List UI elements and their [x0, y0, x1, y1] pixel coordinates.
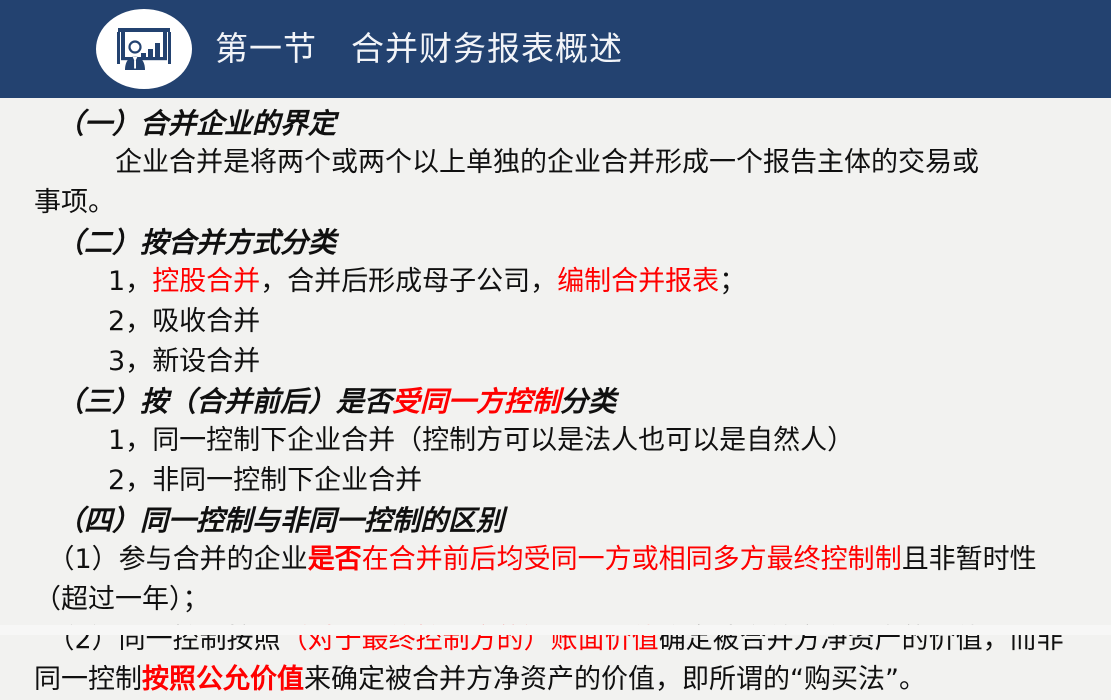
list-item-text: 非同一控制下企业合并 — [152, 465, 422, 496]
item2-mid-3: 来确定被合并方净资产的价 — [304, 664, 628, 695]
list-item-text-tail: ； — [719, 266, 746, 297]
list-item-number: 2， — [108, 465, 152, 496]
list-item-number: 2， — [108, 306, 152, 337]
section-one-paragraph-line-2: 事项。 — [34, 183, 1084, 223]
section-two-heading: （二）按合并方式分类 — [34, 223, 1084, 262]
item2-highlight-2: 按照公允价值 — [142, 664, 304, 695]
list-item-highlight-lead: 控股合并 — [152, 266, 260, 297]
slide-header-band: 第一节 合并财务报表概述 — [0, 0, 1111, 98]
list-item: 2，吸收合并 — [34, 302, 1084, 342]
list-item: 1，同一控制下企业合并（控制方可以是法人也可以是自然人） — [34, 421, 1084, 461]
section-four-item-1: （1）参与合并的企业是否在合并前后均受同一方或相同多方最终控制制且非暂时性（超过… — [34, 540, 1084, 620]
list-item-number: 3， — [108, 346, 152, 377]
slide-content: （一）合并企业的界定 企业合并是将两个或两个以上单独的企业合并形成一个报告主体的… — [34, 104, 1084, 700]
item1-highlight-wrap: 制 — [875, 544, 902, 575]
item1-lead: （1）参与合并的企业 — [34, 544, 308, 575]
list-item: 2，非同一控制下企业合并 — [34, 461, 1084, 501]
section-three-heading-part2: 分类 — [560, 385, 616, 418]
presentation-chart-person-icon — [115, 24, 173, 74]
list-item: 3，新设合并 — [34, 342, 1084, 382]
list-item-text: 新设合并 — [152, 346, 260, 377]
section-one-heading: （一）合并企业的界定 — [34, 104, 1084, 143]
section-four-heading: （四）同一控制与非同一控制的区别 — [34, 501, 1084, 540]
list-item-text-mid: ，合并后形成母子公司， — [260, 266, 557, 297]
item1-highlight-bold: 是否 — [308, 544, 362, 575]
slide-bottom-strip — [0, 625, 1111, 635]
slide-body: （一）合并企业的界定 企业合并是将两个或两个以上单独的企业合并形成一个报告主体的… — [0, 98, 1111, 625]
list-item: 1，控股合并，合并后形成母子公司，编制合并报表； — [34, 262, 1084, 302]
list-item-text: 同一控制下企业合并（控制方可以是法人也可以是自然人） — [152, 425, 854, 456]
list-item-text: 吸收合并 — [152, 306, 260, 337]
section-one-paragraph-line-1: 企业合并是将两个或两个以上单独的企业合并形成一个报告主体的交易或 — [34, 143, 1084, 183]
list-item-highlight-tail: 编制合并报表 — [557, 266, 719, 297]
header-icon-circle — [96, 9, 192, 89]
section-three-heading-highlight: 受同一方控制 — [392, 385, 560, 418]
item1-highlight: 在合并前后均受同一方或相同多方最终控制 — [362, 544, 875, 575]
item2-tail: 值，即所谓的“购买法”。 — [628, 664, 926, 695]
page-title: 第一节 合并财务报表概述 — [215, 31, 623, 67]
section-three-heading-part1: （三）按（合并前后）是否 — [56, 385, 392, 418]
list-item-number: 1， — [108, 266, 152, 297]
list-item-number: 1， — [108, 425, 152, 456]
section-three-heading: （三）按（合并前后）是否受同一方控制分类 — [34, 382, 1084, 421]
